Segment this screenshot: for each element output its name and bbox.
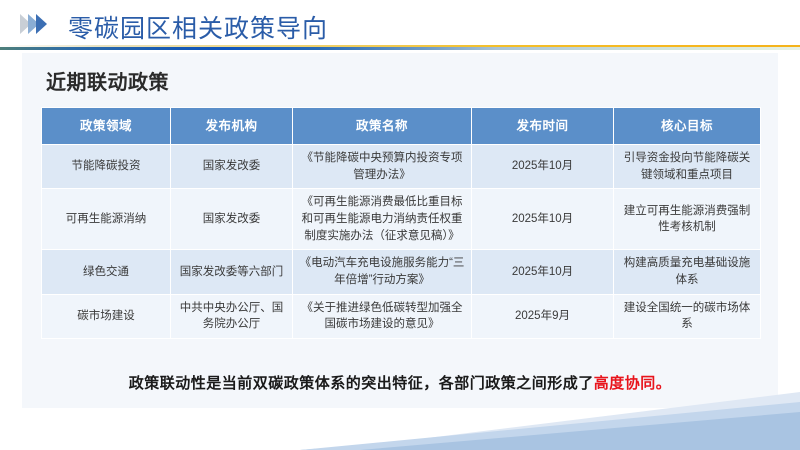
cell-agency: 国家发改委等六部门: [171, 250, 293, 294]
chevron-right-icon-dark: [36, 14, 47, 34]
header-blue-divider: [0, 47, 800, 51]
cell-policy-field: 节能降碳投资: [42, 145, 171, 189]
policy-table: 政策领域 发布机构 政策名称 发布时间 核心目标 节能降碳投资 国家发改委 《节…: [41, 107, 761, 339]
diagonal-band-pale: [300, 402, 800, 450]
column-header-policy-name: 政策名称: [293, 108, 472, 145]
table-head: 政策领域 发布机构 政策名称 发布时间 核心目标: [42, 108, 761, 145]
table-row: 节能降碳投资 国家发改委 《节能降碳中央预算内投资专项管理办法》 2025年10…: [42, 145, 761, 189]
cell-core-goal: 建立可再生能源消费强制性考核机制: [614, 189, 761, 250]
cell-core-goal: 引导资金投向节能降碳关键领域和重点项目: [614, 145, 761, 189]
summary-text-plain: 政策联动性是当前双碳政策体系的突出特征，各部门政策之间形成了: [129, 375, 594, 392]
table-row: 绿色交通 国家发改委等六部门 《电动汽车充电设施服务能力“三年倍增”行动方案》 …: [42, 250, 761, 294]
slide-header: 零碳园区相关政策导向: [0, 0, 800, 48]
cell-agency: 国家发改委: [171, 189, 293, 250]
cell-policy-name: 《节能降碳中央预算内投资专项管理办法》: [293, 145, 472, 189]
column-header-core-goal: 核心目标: [614, 108, 761, 145]
column-header-policy-field: 政策领域: [42, 108, 171, 145]
slide: 零碳园区相关政策导向 近期联动政策 政策领域 发布机构 政策名称 发布时间 核心…: [0, 0, 800, 450]
cell-agency: 中共中央办公厅、国务院办公厅: [171, 294, 293, 338]
chevron-group: [20, 14, 44, 34]
cell-agency: 国家发改委: [171, 145, 293, 189]
cell-policy-name: 《关于推进绿色低碳转型加强全国碳市场建设的意见》: [293, 294, 472, 338]
cell-release-date: 2025年10月: [472, 145, 614, 189]
column-header-release-date: 发布时间: [472, 108, 614, 145]
table-header-row: 政策领域 发布机构 政策名称 发布时间 核心目标: [42, 108, 761, 145]
cell-policy-name: 《可再生能源消费最低比重目标和可再生能源电力消纳责任权重制度实施办法（征求意见稿…: [293, 189, 472, 250]
cell-core-goal: 建设全国统一的碳市场体系: [614, 294, 761, 338]
summary-callout-text: 政策联动性是当前双碳政策体系的突出特征，各部门政策之间形成了高度协同。: [129, 372, 672, 393]
diagonal-band-mid: [300, 410, 800, 450]
summary-text-highlight: 高度协同。: [594, 375, 672, 392]
cell-policy-field: 碳市场建设: [42, 294, 171, 338]
cell-release-date: 2025年10月: [472, 189, 614, 250]
cell-policy-field: 可再生能源消纳: [42, 189, 171, 250]
cell-core-goal: 构建高质量充电基础设施体系: [614, 250, 761, 294]
summary-callout: 政策联动性是当前双碳政策体系的突出特征，各部门政策之间形成了高度协同。: [22, 356, 778, 408]
content-panel: 近期联动政策 政策领域 发布机构 政策名称 发布时间 核心目标 节能降碳投资 国…: [22, 53, 778, 408]
cell-policy-field: 绿色交通: [42, 250, 171, 294]
cell-release-date: 2025年10月: [472, 250, 614, 294]
table-row: 碳市场建设 中共中央办公厅、国务院办公厅 《关于推进绿色低碳转型加强全国碳市场建…: [42, 294, 761, 338]
cell-policy-name: 《电动汽车充电设施服务能力“三年倍增”行动方案》: [293, 250, 472, 294]
table-row: 可再生能源消纳 国家发改委 《可再生能源消费最低比重目标和可再生能源电力消纳责任…: [42, 189, 761, 250]
section-title: 近期联动政策: [46, 66, 169, 95]
page-title: 零碳园区相关政策导向: [68, 9, 328, 45]
cell-release-date: 2025年9月: [472, 294, 614, 338]
table-body: 节能降碳投资 国家发改委 《节能降碳中央预算内投资专项管理办法》 2025年10…: [42, 145, 761, 339]
column-header-agency: 发布机构: [171, 108, 293, 145]
